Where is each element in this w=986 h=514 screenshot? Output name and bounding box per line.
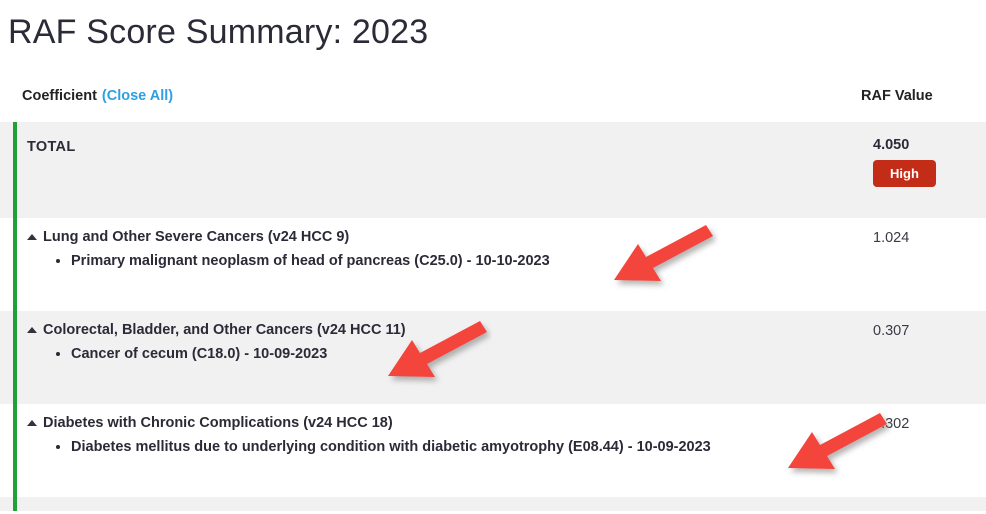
diagnosis-list: Diabetes mellitus due to underlying cond… <box>27 437 873 457</box>
hcc-toggle[interactable]: Colorectal, Bladder, and Other Cancers (… <box>27 322 873 338</box>
row-accent-bar <box>13 311 17 404</box>
caret-up-icon[interactable] <box>27 327 37 333</box>
table-row: Diabetes with Chronic Complications (v24… <box>0 404 986 497</box>
table-row-total: TOTAL 4.050 High <box>0 122 986 218</box>
hcc-title: Lung and Other Severe Cancers (v24 HCC 9… <box>43 229 349 245</box>
hcc-raf-value: 1.024 <box>873 230 909 246</box>
hcc-raf-value: 0.302 <box>873 416 909 432</box>
table-row: Colorectal, Bladder, and Other Cancers (… <box>0 311 986 404</box>
column-header-coefficient: Coefficient <box>22 88 97 104</box>
total-label-cell: TOTAL <box>13 122 873 218</box>
hcc-cell: Colorectal, Bladder, and Other Cancers (… <box>13 311 873 404</box>
row-accent-bar <box>13 404 17 497</box>
hcc-value-cell: 0.302 <box>873 404 986 497</box>
table-row: Lung and Other Severe Cancers (v24 HCC 9… <box>0 218 986 311</box>
caret-up-icon[interactable] <box>27 420 37 426</box>
caret-up-icon[interactable] <box>27 234 37 240</box>
diagnosis-list: Cancer of cecum (C18.0) - 10-09-2023 <box>27 344 873 364</box>
table-row-partial <box>0 497 986 511</box>
status-badge[interactable]: High <box>873 160 936 187</box>
hcc-title: Colorectal, Bladder, and Other Cancers (… <box>43 322 406 338</box>
hcc-raf-value: 0.307 <box>873 323 909 339</box>
total-label: TOTAL <box>27 139 75 155</box>
row-accent-bar <box>13 218 17 311</box>
total-raf-value: 4.050 <box>873 137 986 153</box>
list-item: Cancer of cecum (C18.0) - 10-09-2023 <box>71 344 873 364</box>
diagnosis-list: Primary malignant neoplasm of head of pa… <box>27 251 873 271</box>
table-header-row: Coefficient (Close All) RAF Value <box>0 88 986 122</box>
hcc-value-cell: 1.024 <box>873 218 986 311</box>
row-accent-bar <box>13 497 17 511</box>
column-header-raf-value: RAF Value <box>861 88 974 104</box>
close-all-link[interactable]: (Close All) <box>102 88 173 104</box>
hcc-cell: Diabetes with Chronic Complications (v24… <box>13 404 873 497</box>
raf-score-table: Coefficient (Close All) RAF Value TOTAL … <box>0 88 986 511</box>
page-title: RAF Score Summary: 2023 <box>0 0 986 54</box>
hcc-value-cell: 0.307 <box>873 311 986 404</box>
list-item: Primary malignant neoplasm of head of pa… <box>71 251 873 271</box>
list-item: Diabetes mellitus due to underlying cond… <box>71 437 873 457</box>
row-accent-bar <box>13 122 17 218</box>
hcc-title: Diabetes with Chronic Complications (v24… <box>43 415 393 431</box>
hcc-toggle[interactable]: Lung and Other Severe Cancers (v24 HCC 9… <box>27 229 873 245</box>
total-value-cell: 4.050 High <box>873 122 986 218</box>
hcc-toggle[interactable]: Diabetes with Chronic Complications (v24… <box>27 415 873 431</box>
hcc-cell: Lung and Other Severe Cancers (v24 HCC 9… <box>13 218 873 311</box>
